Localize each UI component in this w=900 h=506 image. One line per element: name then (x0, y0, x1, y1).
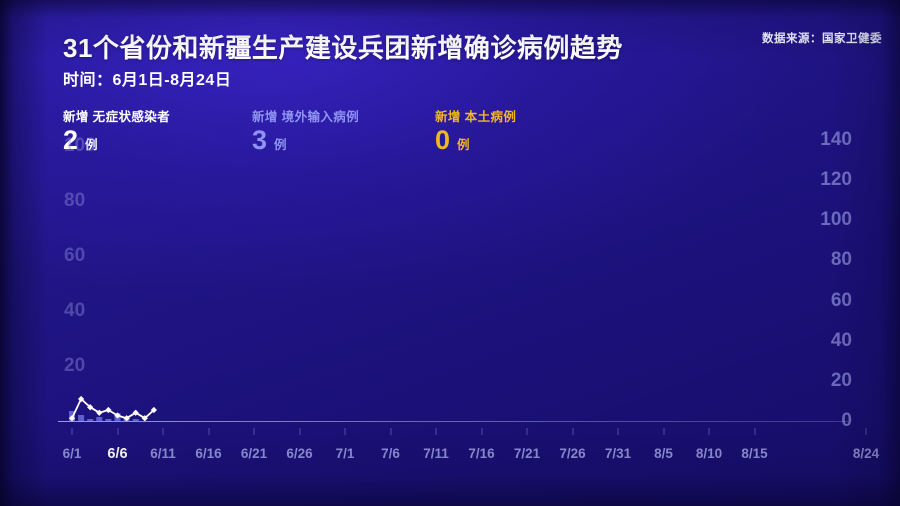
stat-local: 新增 本土病例 0 例 (435, 106, 516, 154)
stat-unit: 例 (274, 134, 287, 153)
y-axis-left-tick: 40 (64, 301, 85, 320)
x-axis-tick-mark (390, 428, 391, 435)
stat-label: 新增 境外输入病例 (252, 106, 359, 125)
stat-label: 新增 无症状感染者 (63, 106, 170, 125)
data-point-marker (87, 404, 93, 410)
y-axis-right-tick: 60 (831, 291, 852, 310)
x-axis-tick: 6/11 (150, 446, 176, 461)
axis-baseline (58, 421, 848, 422)
x-axis-tick-mark (436, 428, 437, 435)
data-point-marker (105, 407, 111, 413)
page-title: 31个省份和新疆生产建设兵团新增确诊病例趋势 (63, 28, 623, 65)
y-axis-right-tick: 140 (820, 130, 852, 149)
line-markers (69, 396, 157, 421)
x-axis-tick-mark (299, 428, 300, 435)
x-axis-tick: 7/21 (514, 446, 540, 461)
y-axis-right-tick: 120 (820, 170, 852, 189)
x-axis-tick-mark (865, 428, 866, 435)
x-axis-tick: 8/10 (696, 446, 722, 461)
x-axis-tick-mark (572, 428, 573, 435)
x-axis-tick-mark (481, 428, 482, 435)
stat-value: 3 (252, 127, 267, 154)
data-point-marker (151, 407, 157, 413)
y-axis-right-tick: 80 (831, 250, 852, 269)
x-axis-tick: 7/6 (381, 446, 400, 461)
y-axis-left-tick: 20 (64, 356, 85, 375)
y-axis-left-tick: 80 (64, 191, 85, 210)
y-axis-right-tick: 100 (820, 210, 852, 229)
x-axis-tick: 8/5 (654, 446, 673, 461)
bar-series (69, 411, 139, 421)
bar (69, 411, 75, 421)
x-axis-tick: 6/16 (195, 446, 221, 461)
x-axis-tick-mark (754, 428, 755, 435)
x-axis-tick-mark (663, 428, 664, 435)
bar (115, 413, 121, 421)
data-point-marker (114, 412, 120, 418)
x-axis-tick: 6/1 (63, 446, 82, 461)
data-point-marker (96, 410, 102, 416)
line-series (72, 399, 154, 418)
stat-label: 新增 本土病例 (435, 106, 516, 125)
y-axis-left-tick: 60 (64, 246, 85, 265)
x-axis-tick-mark (345, 428, 346, 435)
stat-value: 0 (435, 127, 450, 154)
x-axis-tick: 6/6 (107, 446, 127, 462)
x-axis-tick-mark (117, 428, 118, 435)
data-point-marker (78, 396, 84, 402)
x-axis-tick: 7/31 (605, 446, 631, 461)
x-axis-tick-mark (72, 428, 73, 435)
data-point-marker (133, 410, 139, 416)
infographic-canvas: 数据来源：国家卫健委 31个省份和新疆生产建设兵团新增确诊病例趋势 时间：6月1… (0, 0, 900, 506)
y-axis-right-tick: 20 (831, 371, 852, 390)
x-axis-tick-mark (163, 428, 164, 435)
y-axis-left-tick: 100 (64, 136, 96, 155)
x-axis-tick: 6/21 (241, 446, 267, 461)
x-axis-tick-mark (709, 428, 710, 435)
x-axis-tick-mark (254, 428, 255, 435)
stat-imported: 新增 境外输入病例 3 例 (252, 106, 359, 154)
x-axis-tick: 8/24 (853, 446, 879, 461)
page-subtitle: 时间：6月1日-8月24日 (63, 66, 231, 90)
stat-unit: 例 (457, 134, 470, 153)
x-axis-tick-mark (527, 428, 528, 435)
x-axis-tick: 7/1 (336, 446, 355, 461)
x-axis-tick-mark (208, 428, 209, 435)
x-axis-tick: 6/26 (286, 446, 312, 461)
x-axis-tick-mark (618, 428, 619, 435)
x-axis-tick: 8/15 (741, 446, 767, 461)
x-axis-tick: 7/16 (468, 446, 494, 461)
y-axis-right-tick: 40 (831, 331, 852, 350)
x-axis-tick: 7/26 (559, 446, 585, 461)
x-axis-tick: 7/11 (423, 446, 449, 461)
data-source-label: 数据来源：国家卫健委 (762, 30, 882, 46)
